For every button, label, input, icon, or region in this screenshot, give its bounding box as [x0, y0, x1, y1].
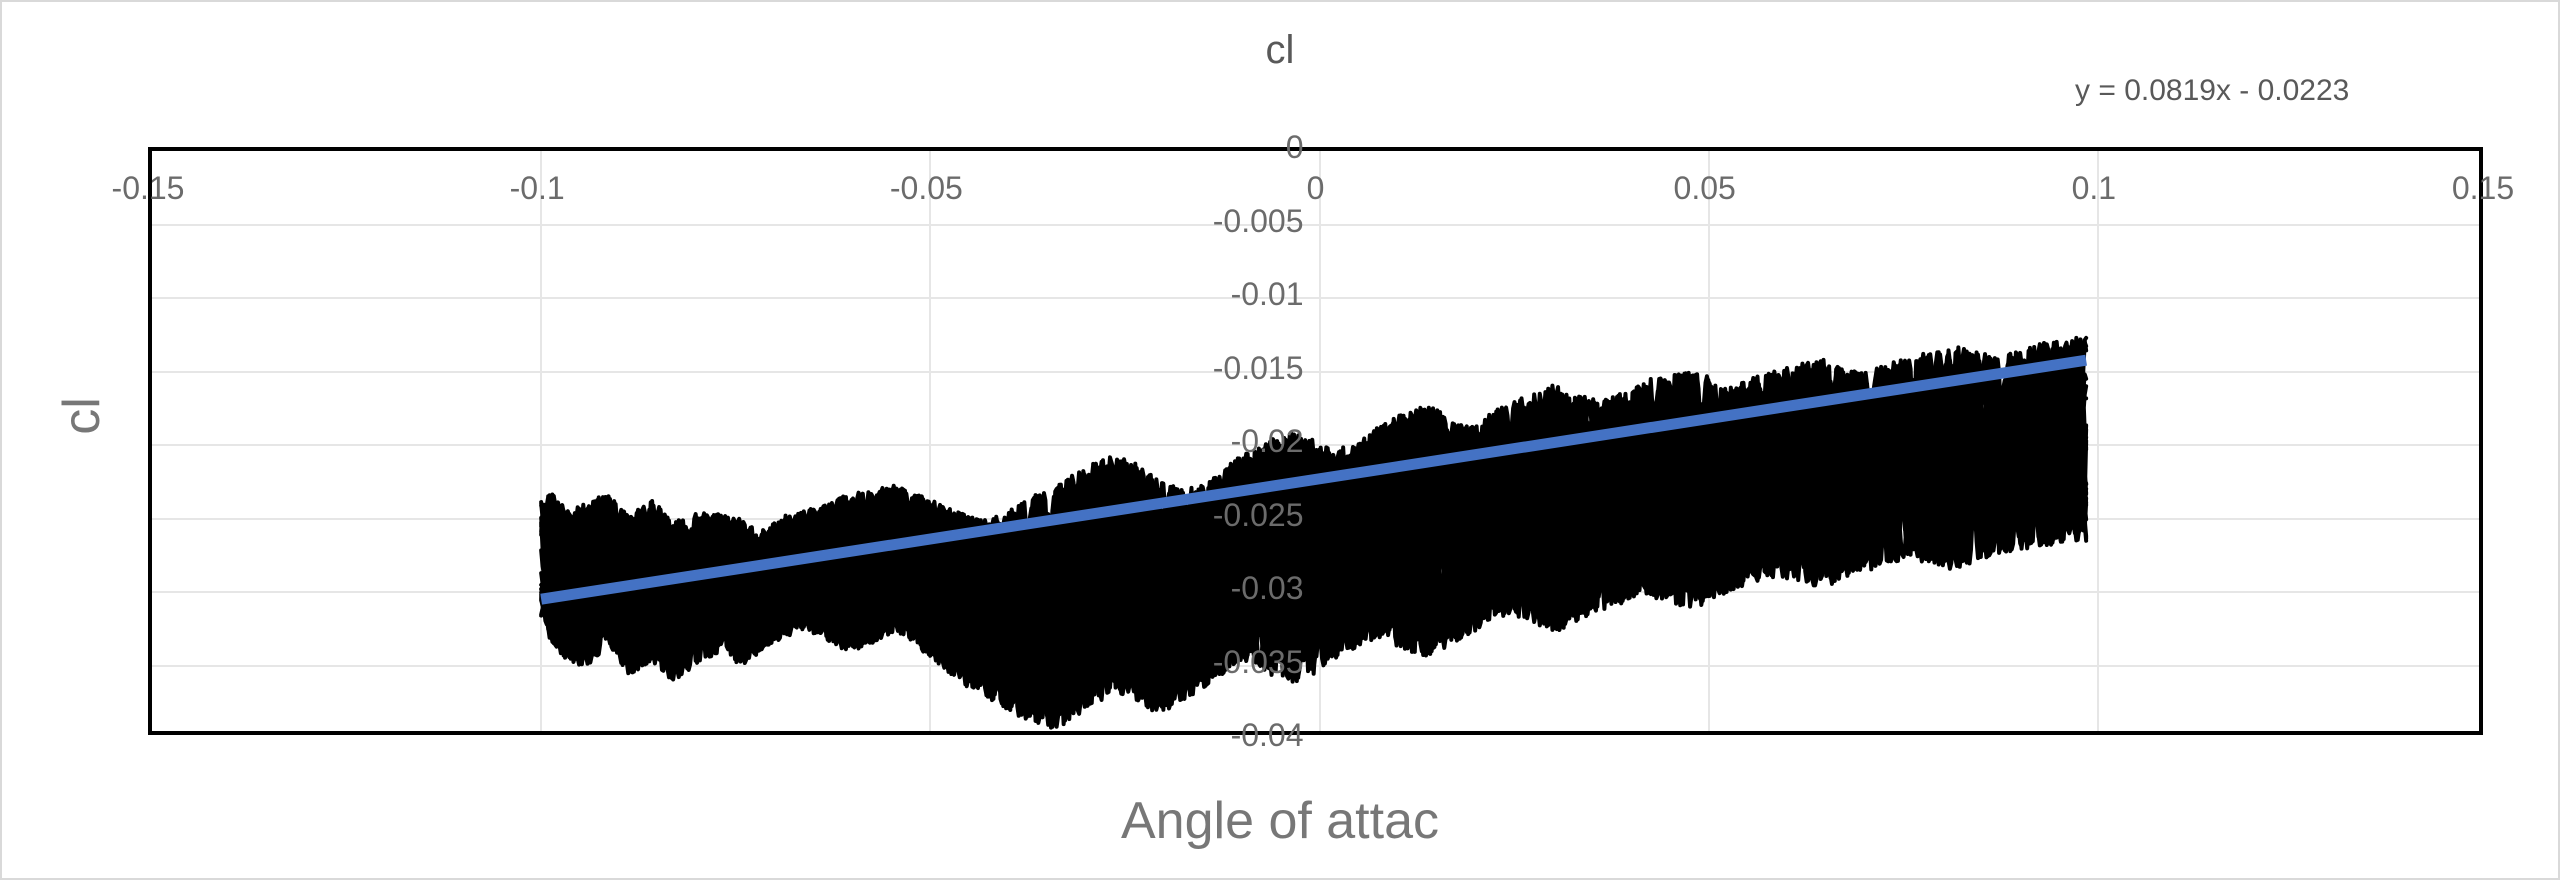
x-tick-label: 0.05	[1674, 172, 1736, 204]
y-tick-label: -0.03	[1231, 572, 1304, 604]
x-tick-label: 0	[1307, 172, 1325, 204]
y-axis-title[interactable]: cl	[56, 356, 108, 476]
trendline-equation-label[interactable]: y = 0.0819x - 0.0223	[2075, 74, 2349, 108]
plot-area[interactable]	[148, 147, 2483, 735]
y-tick-label: -0.04	[1231, 719, 1304, 751]
x-tick-label: -0.05	[890, 172, 963, 204]
x-tick-label: -0.15	[112, 172, 185, 204]
x-tick-label: 0.1	[2072, 172, 2116, 204]
chart-title[interactable]: cl	[0, 30, 2560, 70]
trendline-linear-cl[interactable]	[152, 151, 2479, 731]
y-tick-label: -0.035	[1213, 646, 1304, 678]
x-tick-label: -0.1	[510, 172, 565, 204]
x-axis-title[interactable]: Angle of attac	[0, 795, 2560, 847]
plot-inner	[152, 151, 2479, 731]
trendline-path[interactable]	[541, 360, 2086, 599]
y-tick-label: -0.005	[1213, 205, 1304, 237]
y-tick-label: -0.01	[1231, 278, 1304, 310]
y-tick-label: -0.025	[1213, 499, 1304, 531]
y-tick-label: -0.02	[1231, 425, 1304, 457]
y-tick-label: 0	[1286, 131, 1304, 163]
y-tick-label: -0.015	[1213, 352, 1304, 384]
chart-container[interactable]: cl y = 0.0819x - 0.0223 cl Angle of atta…	[0, 0, 2560, 880]
x-tick-label: 0.15	[2452, 172, 2514, 204]
